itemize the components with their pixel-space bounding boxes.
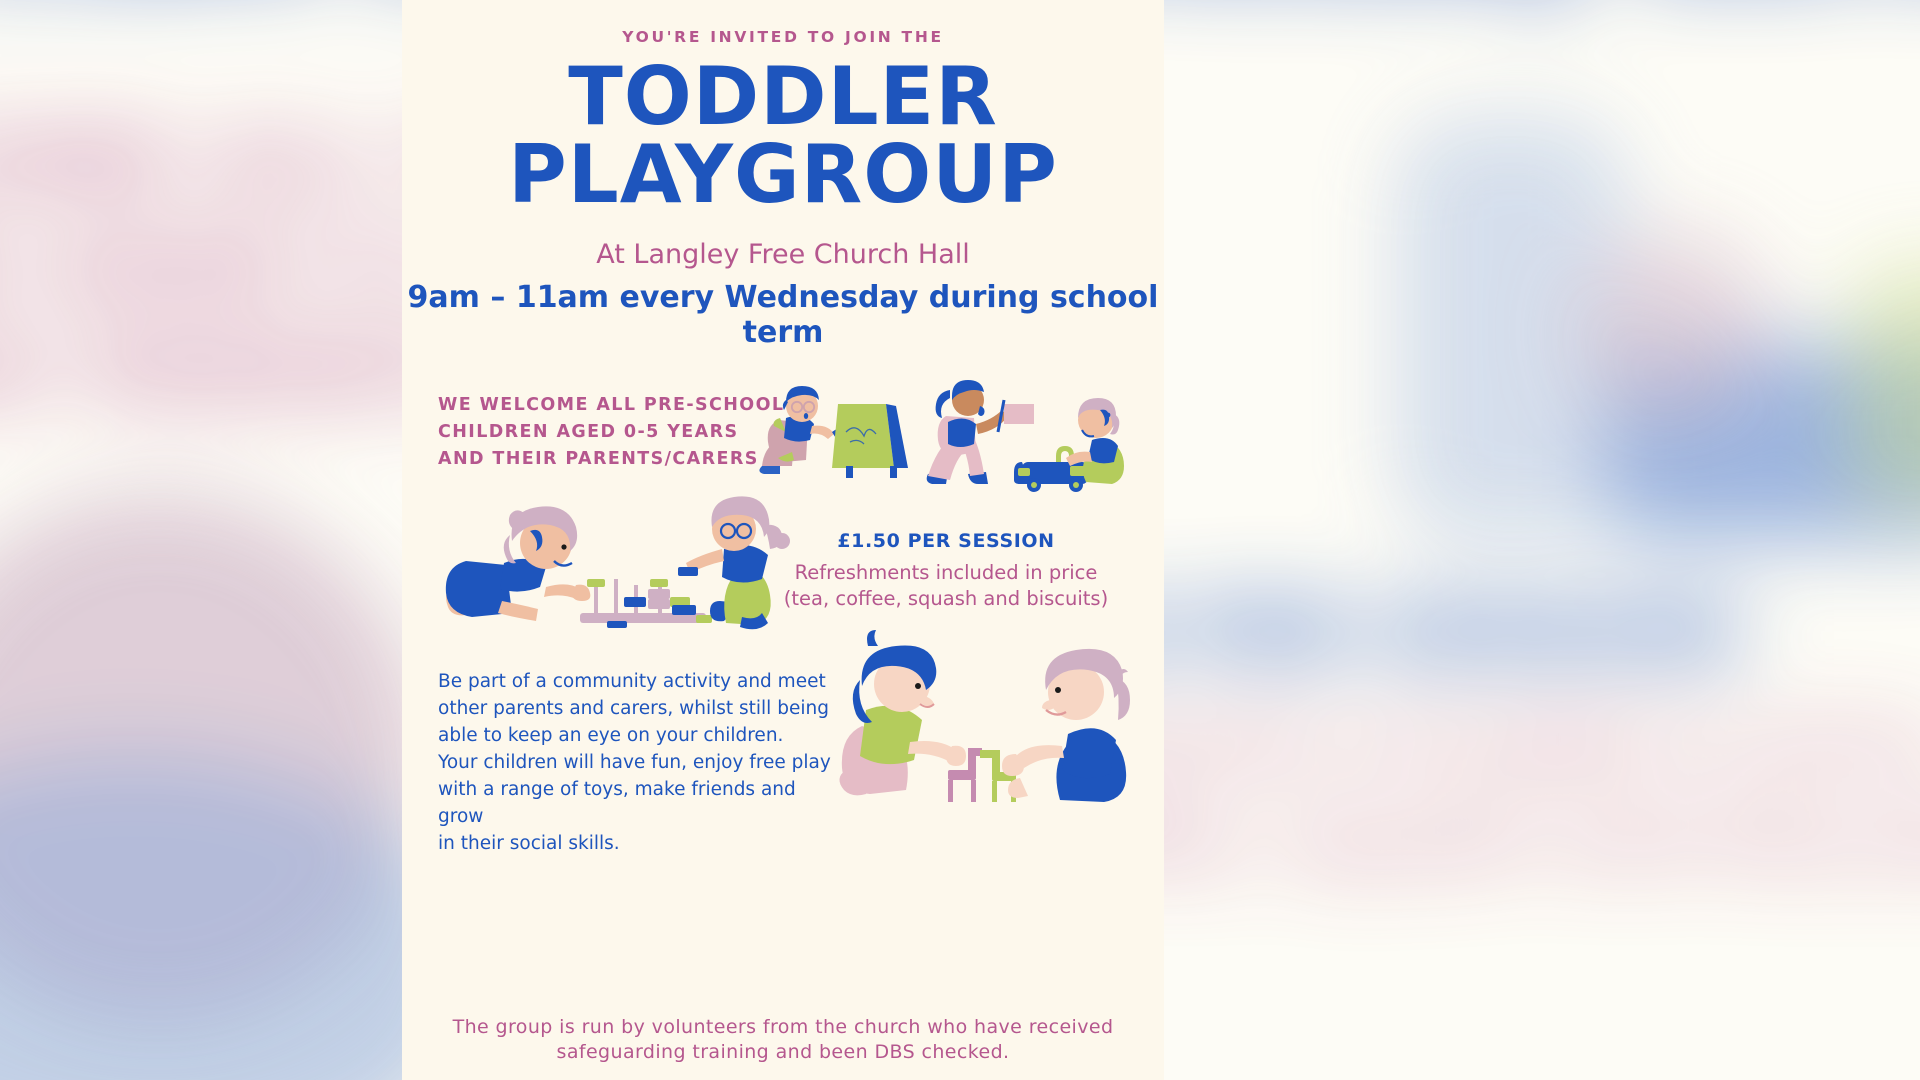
bg-shape-green: [1851, 265, 1920, 508]
price-text: £1.50 PER SESSION: [746, 530, 1146, 552]
page-title: TODDLER PLAYGROUP: [402, 60, 1164, 213]
refreshments-block: Refreshments included in price (tea, cof…: [746, 560, 1146, 613]
body-line-3: able to keep an eye on your children.: [438, 722, 838, 749]
refreshments-line-2: (tea, coffee, squash and biscuits): [746, 586, 1146, 612]
bg-shape-head2: [1576, 232, 1770, 426]
welcome-line-2: CHILDREN AGED 0-5 YEARS: [438, 419, 784, 446]
welcome-line-1: WE WELCOME ALL PRE-SCHOOL: [438, 392, 784, 419]
venue-text: At Langley Free Church Hall: [402, 239, 1164, 270]
children-with-toy-animals-illustration: [832, 630, 1132, 805]
body-line-2: other parents and carers, whilst still b…: [438, 695, 838, 722]
title-line-2: PLAYGROUP: [402, 138, 1164, 212]
poster-card: YOU'RE INVITED TO JOIN THE TODDLER PLAYG…: [402, 0, 1164, 1080]
times-text: 9am – 11am every Wednesday during school…: [402, 280, 1164, 350]
children-with-stacking-blocks-illustration: [442, 485, 792, 635]
refreshments-line-1: Refreshments included in price: [746, 560, 1146, 586]
body-paragraph: Be part of a community activity and meet…: [438, 668, 838, 857]
body-line-4: Your children will have fun, enjoy free …: [438, 749, 838, 776]
body-line-5: with a range of toys, make friends and g…: [438, 776, 838, 830]
footer-line-1: The group is run by volunteers from the …: [432, 1015, 1134, 1041]
title-line-1: TODDLER: [402, 60, 1164, 134]
body-line-6: in their social skills.: [438, 830, 838, 857]
children-with-toy-truck-illustration: [922, 378, 1127, 493]
welcome-block: WE WELCOME ALL PRE-SCHOOL CHILDREN AGED …: [438, 392, 784, 473]
body-line-1: Be part of a community activity and meet: [438, 668, 838, 695]
footer-line-2: safeguarding training and been DBS check…: [432, 1040, 1134, 1066]
footer-note: The group is run by volunteers from the …: [402, 1015, 1164, 1066]
poster-kicker: YOU'RE INVITED TO JOIN THE: [402, 28, 1164, 46]
child-drawing-at-easel-illustration: [750, 380, 910, 480]
price-block: £1.50 PER SESSION Refreshments included …: [746, 530, 1146, 613]
welcome-line-3: AND THEIR PARENTS/CARERS: [438, 446, 784, 473]
